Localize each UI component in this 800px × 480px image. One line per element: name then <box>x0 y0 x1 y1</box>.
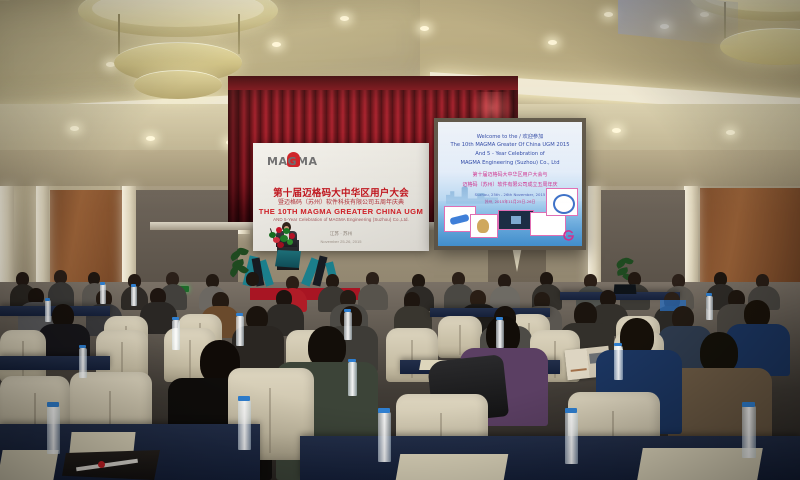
water-bottle <box>79 348 87 378</box>
conference-hall-photo: MA G MA 第十届迈格码大中华区用户大会 暨迈格码（苏州）软件科技有限公司五… <box>0 0 800 480</box>
slide-line-2: The 10th MAGMA Greater Of China UGM 2015 <box>438 142 582 148</box>
bottle-cap <box>236 313 243 316</box>
magma-logo-accent-letter: G <box>287 155 297 168</box>
magma-logo: MA G MA <box>267 157 317 167</box>
magma-g-icon <box>562 228 574 240</box>
bottle-cap <box>614 343 622 346</box>
water-bottle <box>348 362 357 396</box>
bottle-cap <box>45 298 50 301</box>
water-bottle <box>172 320 180 350</box>
downlight-icon <box>146 136 155 141</box>
bottle-cap <box>238 396 250 401</box>
bottle-cap <box>706 293 712 296</box>
magma-logo-suffix: MA <box>297 157 317 167</box>
banner-chinese-subtitle: 暨迈格码（苏州）软件科技有限公司五周年庆典 <box>253 197 429 206</box>
downlight-icon <box>726 130 735 135</box>
bottle-cap <box>100 282 105 285</box>
notepad <box>396 454 509 480</box>
projection-screen-frame: Welcome to the / 欢迎参加 The 10th MAGMA Gre… <box>434 118 586 250</box>
water-bottle <box>742 406 756 458</box>
downlight-icon <box>420 26 429 31</box>
slide-chinese-1: 第十届迈格码大中华区用户大会与 <box>438 171 582 178</box>
downlight-icon <box>604 12 613 17</box>
bottle-cap <box>378 408 390 413</box>
water-bottle <box>496 320 504 348</box>
downlight-icon <box>70 126 79 131</box>
water-bottle <box>614 346 623 380</box>
bottle-cap <box>172 317 179 320</box>
projection-screen: Welcome to the / 欢迎参加 The 10th MAGMA Gre… <box>438 122 582 246</box>
water-bottle <box>378 412 391 462</box>
stage-flower-arrangement <box>267 226 299 250</box>
podium-front-panel <box>275 250 301 268</box>
slide-line-4: MAGMA Engineering (Suzhou) Co., Ltd <box>438 160 582 166</box>
magma-logo-accent: G <box>287 157 297 167</box>
water-bottle <box>238 400 251 450</box>
slide-thumbnail <box>470 214 498 238</box>
banner-english-subtitle: AND 5-Year Celebration of MAGMA Engineer… <box>253 217 429 222</box>
slide-line-1: Welcome to the / 欢迎参加 <box>438 133 582 140</box>
bottle-cap <box>47 402 59 407</box>
water-bottle <box>47 406 60 454</box>
laptop-bag <box>62 450 160 480</box>
bottle-cap <box>496 317 503 320</box>
chandelier-ring-bottom <box>134 70 222 99</box>
water-bottle <box>565 412 578 464</box>
banner-english-title: THE 10TH MAGMA GREATER CHINA UGM <box>253 207 429 216</box>
downlight-icon <box>548 40 557 45</box>
water-bottle <box>236 316 244 346</box>
slide-chinese-2: 迈格码（苏州）软件有限公司成立五周年庆 <box>438 181 582 188</box>
stage-curtain-valance <box>228 76 518 90</box>
bottle-cap <box>348 359 356 362</box>
magma-logo-prefix: MA <box>267 157 287 167</box>
downlight-icon <box>612 128 621 133</box>
bottle-cap <box>344 309 351 312</box>
slide-thumbnail <box>498 210 534 230</box>
notepad <box>0 450 59 480</box>
water-bottle <box>344 312 352 340</box>
bottle-cap <box>79 345 86 348</box>
bottle-cap <box>742 402 755 407</box>
water-bottle <box>131 286 137 306</box>
slide-line-3: And 5 - Year Celebration of <box>438 151 582 157</box>
slide-thumbnail <box>546 188 578 216</box>
bottle-cap <box>131 284 136 287</box>
water-bottle <box>706 296 713 320</box>
water-bottle <box>45 300 51 322</box>
laptop <box>614 284 637 294</box>
conference-table <box>0 356 110 370</box>
downlight-icon <box>340 16 349 21</box>
water-bottle <box>100 284 106 304</box>
bottle-cap <box>565 408 577 413</box>
